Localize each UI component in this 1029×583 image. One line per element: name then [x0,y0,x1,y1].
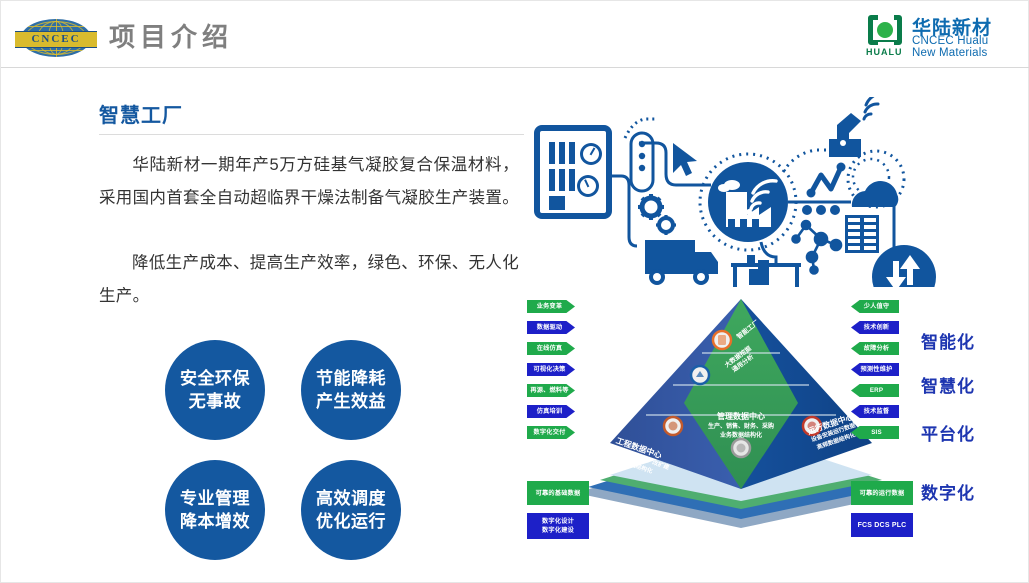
industry-iot-illustration [521,97,1021,287]
benefit-circle-1-line1: 安全环保 [180,367,250,390]
pyramid-level-label-2: 智慧化 [921,372,975,397]
data-transfer-icon [872,245,936,287]
benefit-circle-3-line1: 专业管理 [180,487,250,510]
pyramid-right-block-1[interactable]: 可靠的运行数据 [851,481,913,505]
benefit-circle-2[interactable]: 节能降耗 产生效益 [301,340,401,440]
paragraph-2-text: 降低生产成本、提高生产效率，绿色、环保、无人化生产。 [99,254,519,305]
pyramid-right-tag-6[interactable]: 技术监督 [851,405,899,418]
slide-header: CNCEC 项目介绍 HUALU 华陆新材 CNCEC Hualu New Ma… [1,1,1029,67]
pyramid-level-label-3: 平台化 [921,420,975,445]
pyramid-left-tag-3[interactable]: 在线仿真 [527,342,575,355]
gears-icon [638,194,676,235]
hualu-mark-label: HUALU [866,47,903,57]
pyramid-badge-3 [664,417,682,435]
robot-arm-icon [829,97,885,157]
pyramid-right-tag-1[interactable]: 少人值守 [851,300,899,313]
pyramid-left-tag-7[interactable]: 数字化交付 [527,426,575,439]
benefit-circle-4-line2: 优化运行 [316,510,386,533]
benefit-circle-2-line2: 产生效益 [316,390,386,413]
section-divider [99,134,524,135]
pyramid-left-block-2-line2: 数字化建设 [542,526,574,535]
hualu-en-line2: New Materials [912,47,987,59]
maturity-pyramid-diagram: 智能工厂 大数据挖掘 通用分析 管理数据中心 生产、销售、财务、采购 业务数据结… [521,291,1026,576]
cncec-wordmark: CNCEC [15,31,97,48]
cncec-logo: CNCEC [15,18,97,58]
chart-line-icon [811,167,841,193]
benefit-circle-3-line2: 降本增效 [180,510,250,533]
benefit-circle-4-line1: 高效调度 [316,487,386,510]
paragraph-2: 降低生产成本、提高生产效率，绿色、环保、无人化生产。 [99,247,519,313]
pyramid-left-tag-2[interactable]: 数据驱动 [527,321,575,334]
paragraph-1-text: 华陆新材一期年产5万方硅基气凝胶复合保温材料，采用国内首套全自动超临界干燥法制备… [99,156,519,207]
benefit-circle-1[interactable]: 安全环保 无事故 [165,340,265,440]
pyramid-left-block-2-line1: 数字化设计 [542,517,574,526]
hualu-mark-icon [866,15,906,47]
pyramid-level-label-1: 智能化 [921,328,975,353]
pyramid-right-tag-3[interactable]: 故障分析 [851,342,899,355]
pyramid-right-tag-5[interactable]: ERP [851,384,899,397]
pyramid-left-block-1[interactable]: 可靠的基础数据 [527,481,589,505]
benefit-circle-4[interactable]: 高效调度 优化运行 [301,460,401,560]
benefit-circle-2-line1: 节能降耗 [316,367,386,390]
cursor-icon [673,143,697,176]
pyramid-right-block-2[interactable]: FCS DCS PLC [851,513,913,537]
paragraph-1: 华陆新材一期年产5万方硅基气凝胶复合保温材料，采用国内首套全自动超临界干燥法制备… [99,149,519,215]
pyramid-left-tag-6[interactable]: 仿真培训 [527,405,575,418]
pyramid-badge-4 [732,439,750,457]
pyramid-left-block-2[interactable]: 数字化设计 数字化建设 [527,513,589,539]
control-panel-icon [537,128,609,216]
pyramid-right-tag-2[interactable]: 技术创新 [851,321,899,334]
header-divider [1,67,1029,68]
pyramid-left-tag-4[interactable]: 可视化决策 [527,363,575,376]
server-rack-icon [845,215,879,253]
pyramid-badge-2 [691,366,709,384]
pyramid-left-tag-5[interactable]: 再源、燃料等 [527,384,575,397]
hualu-logo: HUALU 华陆新材 CNCEC Hualu New Materials [866,13,1018,59]
cloud-icon [852,181,898,207]
pyramid-level-label-4: 数字化 [921,479,975,504]
pyramid-right-tag-7[interactable]: SIS [851,426,899,439]
section-title: 智慧工厂 [99,99,183,128]
factory-wifi-icon [700,154,796,250]
slide-root: CNCEC 项目介绍 HUALU 华陆新材 CNCEC Hualu New Ma… [0,0,1029,583]
cncec-wordmark-text: CNCEC [15,32,97,47]
page-title: 项目介绍 [109,19,233,55]
pyramid-badge-1 [713,331,731,349]
benefit-circle-1-line2: 无事故 [180,390,250,413]
pyramid-left-tag-1[interactable]: 业务变革 [527,300,575,313]
benefit-circle-3[interactable]: 专业管理 降本增效 [165,460,265,560]
pyramid-right-tag-4[interactable]: 预测性维护 [851,363,899,376]
pyramid-badge-5 [803,417,821,435]
hualu-en-line1: CNCEC Hualu [912,35,988,47]
conveyor-icon [731,255,801,287]
truck-icon [645,240,718,285]
